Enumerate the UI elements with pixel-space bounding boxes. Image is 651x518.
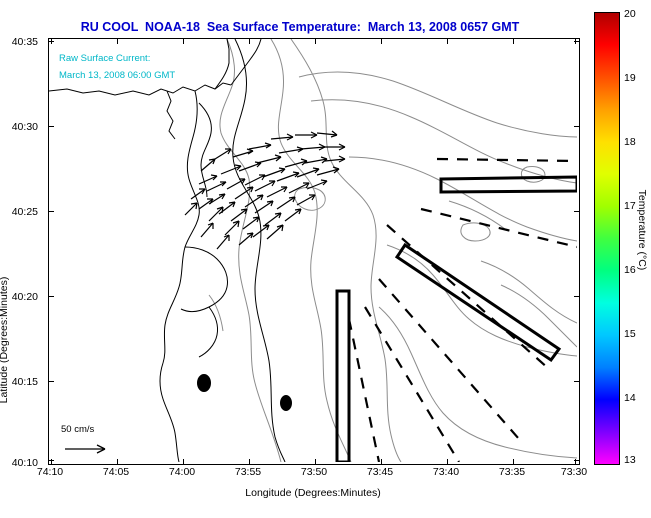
colorbar-tick-19: 19 <box>624 72 636 84</box>
y-tick-1: 40:30 <box>12 121 38 133</box>
transect-boxes <box>337 177 577 462</box>
x-tick-1: 74:05 <box>103 466 129 478</box>
x-tick-4: 73:50 <box>301 466 327 478</box>
station-markers <box>197 374 292 411</box>
colorbar <box>594 12 620 465</box>
station-marker-1 <box>197 374 211 392</box>
scale-bar-label: 50 cm/s <box>61 424 94 435</box>
colorbar-label: Temperature (°C) <box>636 150 648 310</box>
sst-contours <box>209 39 577 462</box>
y-tick-0: 40:35 <box>12 36 38 48</box>
y-axis-ticks: 40:35 40:30 40:25 40:20 40:15 40:10 <box>0 38 44 463</box>
colorbar-tick-14: 14 <box>624 392 636 404</box>
station-marker-2 <box>280 395 292 411</box>
colorbar-label-text: Temperature (°C) <box>636 150 648 310</box>
colorbar-tick-18: 18 <box>624 136 636 148</box>
coastline <box>49 39 285 462</box>
colorbar-tick-16: 16 <box>624 264 636 276</box>
x-tick-6: 73:40 <box>433 466 459 478</box>
annotation-datetime: March 13, 2008 06:00 GMT <box>59 70 175 81</box>
x-tick-3: 73:55 <box>235 466 261 478</box>
colorbar-tick-20: 20 <box>624 8 636 20</box>
x-tick-8: 73:30 <box>561 466 587 478</box>
x-tick-5: 73:45 <box>367 466 393 478</box>
x-axis-label: Longitude (Degrees:Minutes) <box>48 487 578 499</box>
map-graphics <box>49 39 577 462</box>
map-plot-area[interactable]: Raw Surface Current: March 13, 2008 06:0… <box>48 38 580 465</box>
x-tick-2: 74:00 <box>169 466 195 478</box>
annotation-raw-surface-current: Raw Surface Current: <box>59 53 150 64</box>
colorbar-tick-15: 15 <box>624 328 636 340</box>
y-tick-3: 40:20 <box>12 291 38 303</box>
x-tick-7: 73:35 <box>499 466 525 478</box>
colorbar-tick-17: 17 <box>624 200 636 212</box>
chart-title: RU COOL NOAA-18 Sea Surface Temperature:… <box>0 20 600 34</box>
colorbar-tick-13: 13 <box>624 454 636 466</box>
y-tick-4: 40:15 <box>12 376 38 388</box>
y-tick-5: 40:10 <box>12 457 38 469</box>
scale-arrow-icon <box>65 445 105 453</box>
x-axis-ticks: 74:10 74:05 74:00 73:55 73:50 73:45 73:4… <box>48 466 578 482</box>
y-tick-2: 40:25 <box>12 206 38 218</box>
x-tick-0: 74:10 <box>37 466 63 478</box>
chart-root: RU COOL NOAA-18 Sea Surface Temperature:… <box>0 0 651 518</box>
surface-current-vectors <box>185 131 345 249</box>
